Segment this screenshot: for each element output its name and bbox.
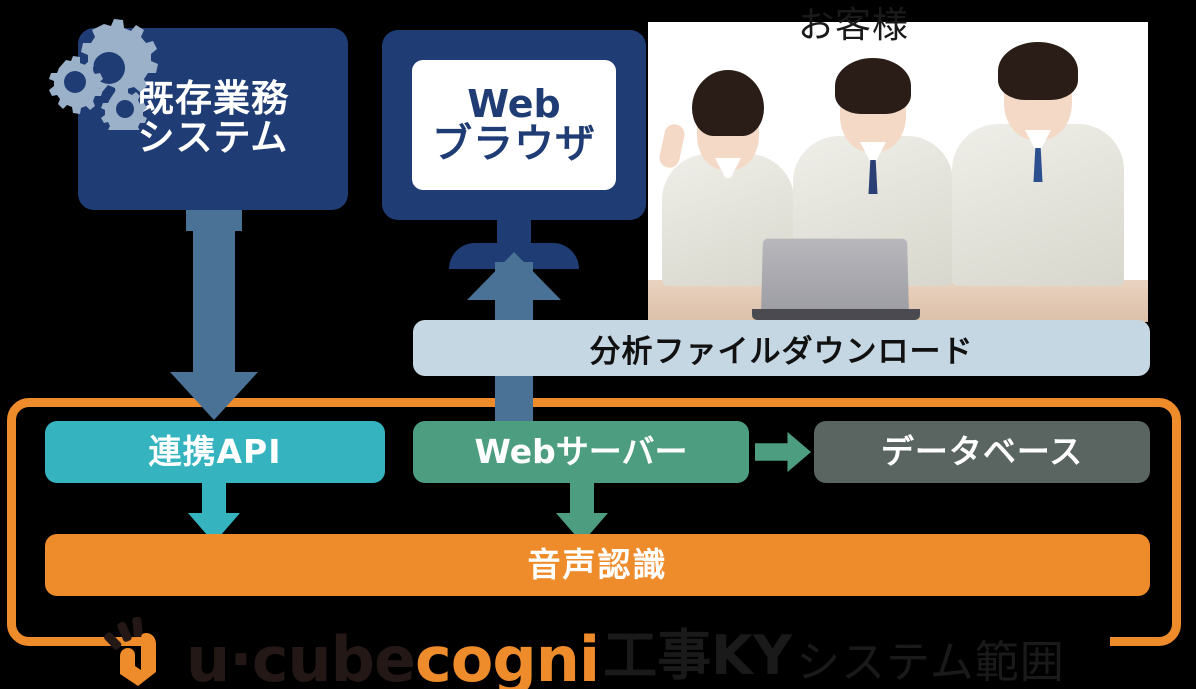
logo-text-dark: u·cube (186, 623, 415, 689)
voice-recognition-box[interactable]: 音声認識 (45, 534, 1150, 596)
customer-label: お客様 (798, 8, 909, 44)
web-browser-label-2: ブラウザ (432, 124, 596, 165)
web-browser-label-1: Web (467, 85, 561, 124)
photo-hair (835, 58, 911, 114)
photo-hair (692, 70, 764, 136)
logo-text-orange: cogni (415, 623, 599, 689)
photo-person-right (948, 28, 1128, 286)
web-browser-box[interactable]: Web ブラウザ (382, 30, 646, 220)
gears-icon (44, 18, 176, 130)
scope-title-bold: 工事KY (603, 611, 792, 689)
photo-laptop-screen (761, 239, 909, 313)
photo-laptop-base (752, 309, 920, 320)
api-box[interactable]: 連携API (45, 421, 385, 483)
hand-cube-logo-icon (100, 616, 178, 689)
browser-stand-neck (497, 218, 531, 256)
scope-title-regular: システム範囲 (796, 626, 1065, 689)
diagram-canvas: お客様 既存業務 システム Web ブラウザ 分析ファイルダウンロード 連携AP… (0, 0, 1196, 689)
database-box[interactable]: データベース (814, 421, 1150, 483)
download-bar: 分析ファイルダウンロード (413, 320, 1150, 376)
customer-photo (648, 22, 1148, 322)
web-server-box[interactable]: Webサーバー (413, 421, 749, 483)
product-logo: u·cubecogni 工事KY システム範囲 (100, 612, 1065, 689)
arrow-legacy-to-api-shaft (193, 222, 235, 382)
logo-wordmark: u·cubecogni (186, 631, 599, 689)
photo-hair (998, 42, 1078, 100)
web-browser-screen: Web ブラウザ (412, 60, 616, 190)
